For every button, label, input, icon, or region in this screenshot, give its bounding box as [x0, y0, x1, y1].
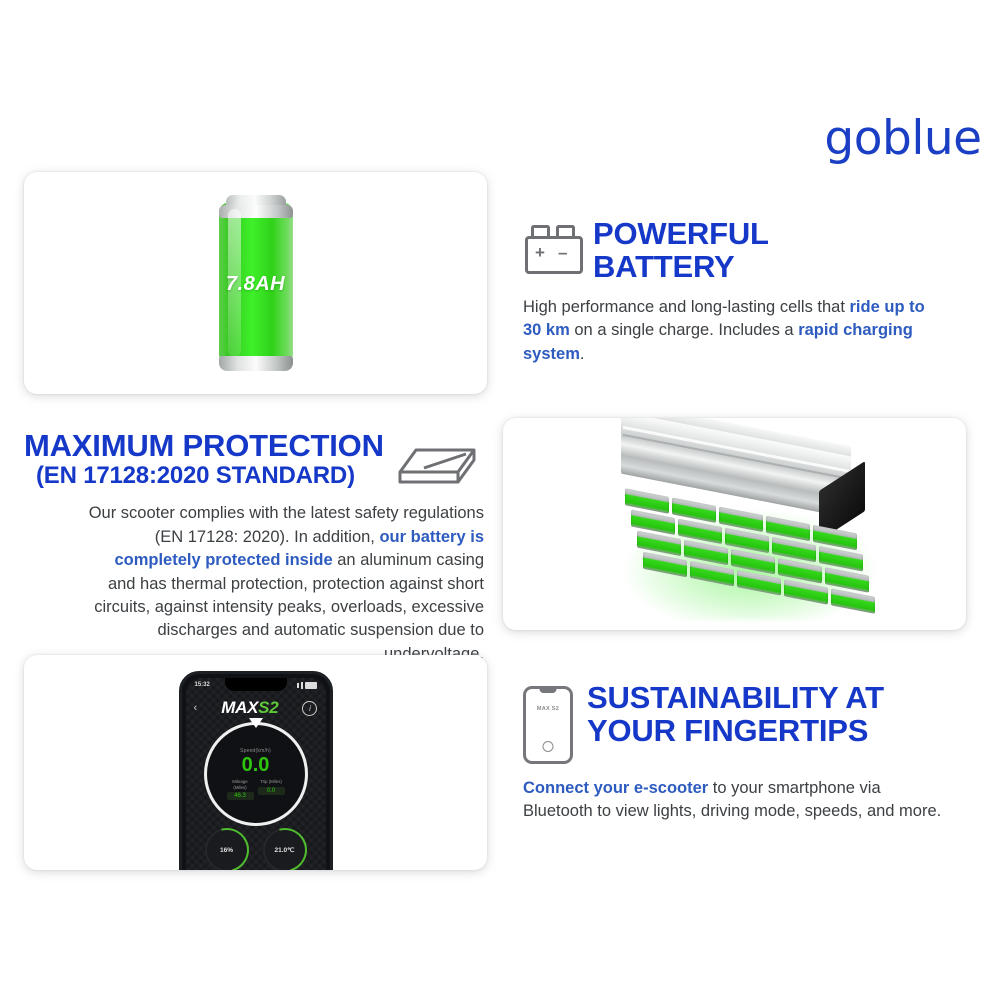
highlight-connect: Connect your e-scooter: [523, 779, 708, 797]
phone-icon-home-button: [543, 741, 554, 752]
battery-cell-illustration: 7.8AH: [219, 195, 293, 371]
maximum-protection-paragraph: Our scooter complies with the latest saf…: [24, 502, 484, 666]
status-time: 15:32: [195, 682, 210, 688]
heading-line-2: YOUR FINGERTIPS: [587, 713, 868, 748]
trip-label: Trip (Miles): [258, 779, 285, 785]
powerful-battery-heading: POWERFUL BATTERY: [593, 218, 769, 284]
speed-value: 0.0: [242, 754, 270, 776]
car-battery-icon: +–: [523, 224, 579, 270]
trip-stats: Mileage (Miles) 46.3 Trip (Miles) 0.0: [227, 779, 285, 800]
dial-pointer-icon: [249, 718, 263, 728]
app-brand-title: MAXS2: [221, 698, 278, 718]
brand-accent: S2: [258, 698, 278, 717]
phone-power-button: [330, 774, 333, 800]
phone-volume-button: [330, 726, 333, 766]
sustainability-paragraph: Connect your e-scooter to your smartphon…: [523, 777, 948, 824]
gauge-row: 16% Battery 21.0℃ Temperature: [186, 828, 326, 870]
phone-icon-label: MAX S2: [526, 706, 570, 712]
info-icon[interactable]: i: [302, 701, 317, 716]
heading-line-1: POWERFUL: [593, 216, 769, 251]
heading-line-2: BATTERY: [593, 249, 735, 284]
phone-icon-notch: [540, 688, 557, 693]
powerful-battery-paragraph: High performance and long-lasting cells …: [523, 296, 943, 366]
mileage-value: 46.3: [227, 792, 254, 800]
aluminum-bar-icon: [394, 440, 480, 490]
battery-gauge-value: 16%: [220, 847, 233, 854]
smartphone-icon: MAX S2: [523, 686, 573, 764]
trip-stat: Trip (Miles) 0.0: [258, 779, 285, 800]
heading-line-1: SUSTAINABILITY AT: [587, 680, 884, 715]
powerful-battery-section: +– POWERFUL BATTERY High performance and…: [523, 218, 943, 366]
sustainability-section: MAX S2 SUSTAINABILITY AT YOUR FINGERTIPS…: [523, 682, 948, 824]
text-run: on a single charge. Includes a: [570, 321, 798, 339]
status-icons: [297, 682, 317, 689]
mileage-stat: Mileage (Miles) 46.3: [227, 779, 254, 800]
speedometer-dial: Speed(km/h) 0.0 Mileage (Miles) 46.3 Tri…: [204, 722, 308, 826]
app-header: ‹ MAXS2 i: [186, 696, 326, 720]
text-run: .: [580, 345, 585, 363]
cell-bottom-band: [219, 356, 293, 371]
maximum-protection-section: MAXIMUM PROTECTION (EN 17128:2020 STANDA…: [24, 430, 484, 666]
battery-gauge-ring: 16%: [205, 828, 249, 870]
smartphone-mockup: 15:32 ‹ MAXS2 i Speed(km/h) 0.0: [179, 671, 333, 870]
trip-value: 0.0: [258, 787, 285, 795]
temperature-gauge-ring: 21.0℃: [263, 828, 307, 870]
battery-status-icon: [305, 682, 317, 689]
phone-screen: 15:32 ‹ MAXS2 i Speed(km/h) 0.0: [186, 678, 326, 870]
brand-main: MAX: [221, 698, 258, 717]
temperature-gauge: 21.0℃ Temperature: [264, 828, 306, 870]
temperature-gauge-value: 21.0℃: [275, 846, 295, 854]
phone-status-bar: 15:32: [186, 679, 326, 691]
mileage-label: Mileage (Miles): [227, 779, 254, 790]
signal-icon: [297, 683, 299, 688]
cell-capacity-label: 7.8AH: [219, 273, 293, 296]
wifi-icon: [301, 682, 303, 689]
sustainability-heading: SUSTAINABILITY AT YOUR FINGERTIPS: [587, 682, 884, 748]
text-run: High performance and long-lasting cells …: [523, 298, 850, 316]
chevron-left-icon[interactable]: ‹: [194, 702, 198, 714]
battery-cell-image-card: 7.8AH: [24, 172, 487, 394]
phone-app-image-card: 15:32 ‹ MAXS2 i Speed(km/h) 0.0: [24, 655, 487, 870]
brand-logo: goblue: [828, 110, 978, 166]
battery-gauge: 16% Battery: [206, 828, 248, 870]
heading-line-1: MAXIMUM PROTECTION: [24, 428, 384, 463]
infographic-canvas: goblue 7.8AH +– POWERFUL BATTERY High pe…: [0, 0, 1000, 1000]
casing-illustration: [503, 418, 966, 630]
aluminum-casing-image-card: [503, 418, 966, 630]
